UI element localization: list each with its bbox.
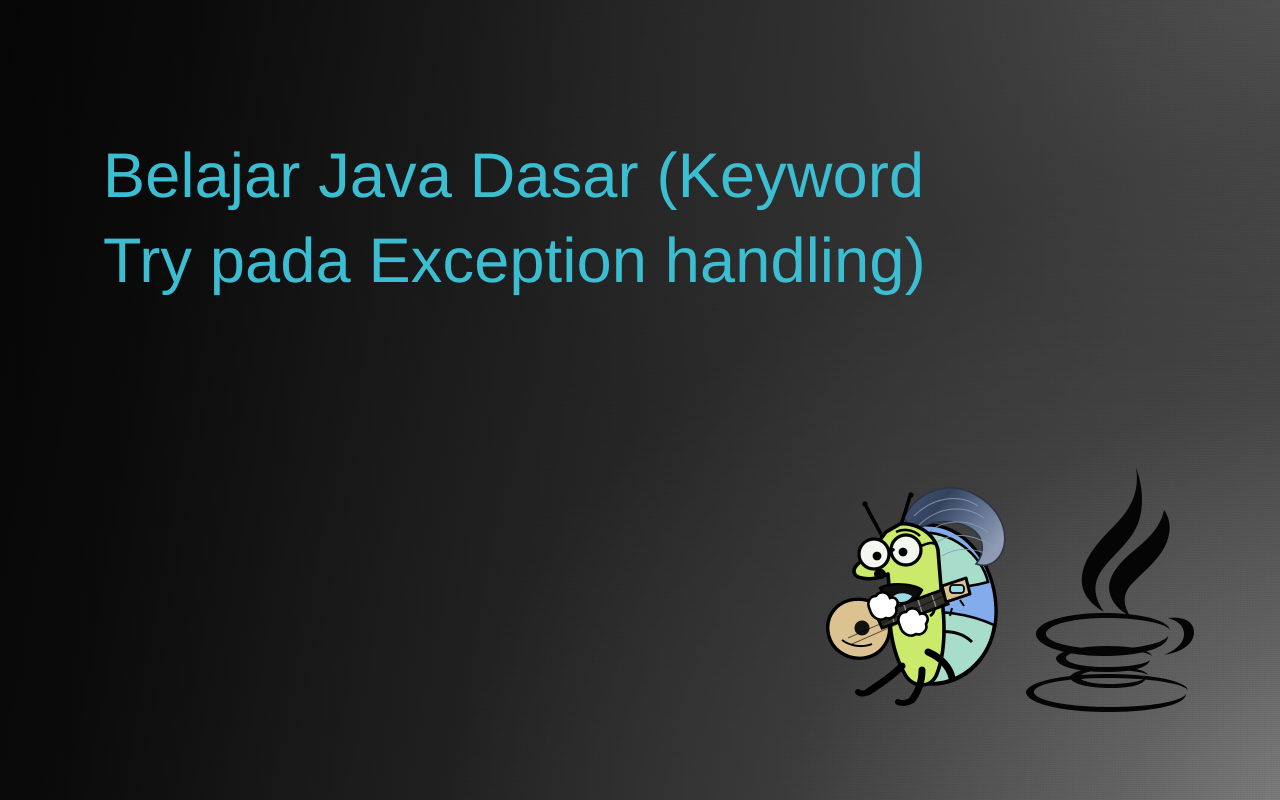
cup-handle (1164, 618, 1194, 655)
cup-base (1026, 674, 1188, 712)
title-line-1: Belajar Java Dasar (Keyword (103, 134, 1003, 219)
leg-left-foot (858, 692, 868, 694)
page-title: Belajar Java Dasar (Keyword Try pada Exc… (103, 134, 1003, 304)
java-duke-bug-mascot-illustration (818, 470, 1023, 705)
java-logo-paths (1026, 468, 1194, 712)
title-line-2: Try pada Exception handling) (103, 219, 1003, 304)
guitar-soundhole (855, 621, 870, 636)
nose (874, 569, 886, 579)
eye-left (873, 552, 882, 561)
cup-rim (1036, 613, 1170, 656)
hand-left (868, 592, 897, 619)
leg-left (868, 666, 902, 692)
glasses-bridge (888, 550, 893, 552)
eye-right (899, 548, 908, 557)
hand-right (898, 608, 927, 635)
java-coffee-cup-logo (1018, 458, 1198, 720)
headstock-inlay (950, 585, 964, 593)
leg-right-foot (898, 700, 912, 703)
slide-canvas: Belajar Java Dasar (Keyword Try pada Exc… (0, 0, 1280, 800)
antenna-left (866, 506, 882, 536)
